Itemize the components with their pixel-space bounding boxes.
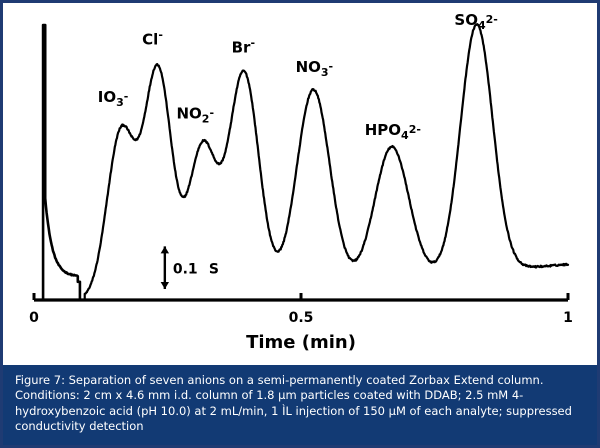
peak-label-br: Br-	[232, 37, 255, 57]
figure-container: 00.51 0.1S IO3-Cl-NO2-Br-NO3-HPO42-SO42-…	[0, 0, 600, 448]
figure-caption-band: Figure 7: Separation of seven anions on …	[3, 365, 597, 445]
peak-label-cl: Cl-	[142, 28, 163, 48]
scale-bar-unit-label: S	[209, 262, 219, 278]
peak-labels-group: IO3-Cl-NO2-Br-NO3-HPO42-SO42-	[98, 11, 498, 142]
peak-label-so42: SO42-	[454, 11, 497, 32]
chromatogram-svg: 00.51 0.1S IO3-Cl-NO2-Br-NO3-HPO42-SO42-…	[3, 3, 597, 365]
peak-label-hpo42: HPO42-	[365, 121, 421, 142]
scale-bar-arrow-up	[161, 246, 169, 253]
peak-label-io3: IO3-	[98, 88, 129, 109]
scale-bar-group: 0.1S	[161, 246, 219, 289]
x-tick-label: 0	[29, 310, 39, 326]
chromatogram-axis-group: 00.51	[29, 293, 573, 326]
x-axis-title: Time (min)	[246, 332, 356, 353]
axis-title-group: Time (min)	[246, 332, 356, 353]
scale-bar-value-label: 0.1	[173, 262, 198, 278]
x-tick-label: 1	[563, 310, 573, 326]
x-tick-label: 0.5	[289, 310, 314, 326]
scale-bar-arrow-down	[161, 282, 169, 289]
peak-label-no3: NO3-	[296, 58, 334, 79]
peak-label-no2: NO2-	[176, 105, 214, 126]
chromatogram-plot: 00.51 0.1S IO3-Cl-NO2-Br-NO3-HPO42-SO42-…	[3, 3, 597, 365]
figure-caption-text: Figure 7: Separation of seven anions on …	[15, 373, 585, 435]
